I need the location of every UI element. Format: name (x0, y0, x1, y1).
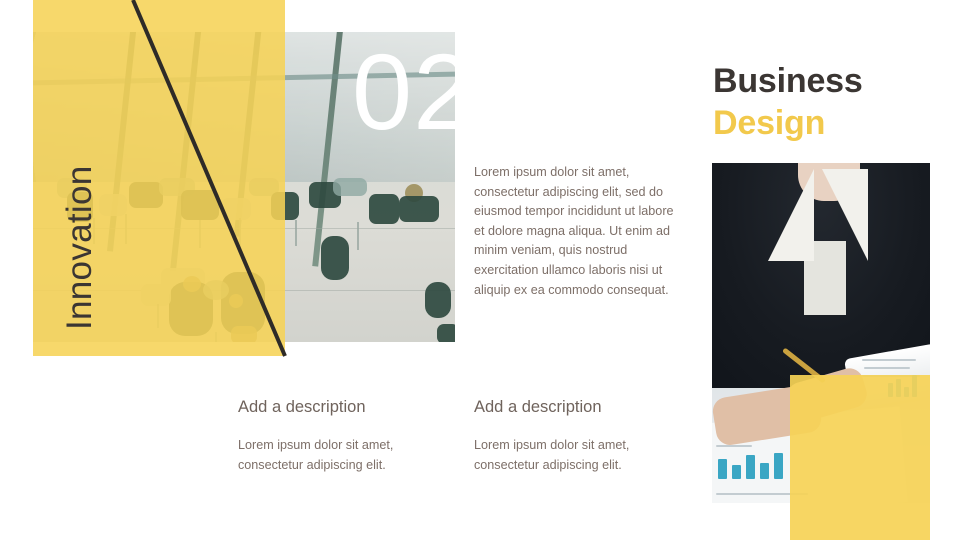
atrium-photo-person (437, 324, 455, 342)
meeting-photo-chart-bar (718, 459, 727, 479)
page-title-primary: Business (713, 60, 863, 102)
atrium-photo-person (399, 196, 439, 222)
title-block: Business Design (713, 60, 863, 144)
atrium-photo-table (333, 178, 367, 196)
main-paragraph: Lorem ipsum dolor sit amet, consectetur … (474, 163, 686, 300)
atrium-photo-chair-leg (357, 222, 359, 250)
slide-canvas: 02 Innovation Business Design Lorem ipsu… (0, 0, 960, 540)
slide-number: 02 (352, 38, 474, 146)
description-heading: Add a description (238, 396, 453, 418)
meeting-photo-collar-left (768, 169, 814, 261)
yellow-overlay-square (790, 375, 930, 540)
meeting-photo-chart-bar (746, 455, 755, 479)
meeting-photo-chart-bar (760, 463, 769, 479)
description-column-1: Add a description Lorem ipsum dolor sit … (238, 396, 453, 475)
meeting-photo-doc-line (862, 359, 916, 361)
atrium-photo-person (321, 236, 349, 280)
description-body: Lorem ipsum dolor sit amet, consectetur … (474, 436, 689, 475)
description-heading: Add a description (474, 396, 689, 418)
meeting-photo-collar-right (822, 169, 868, 261)
meeting-photo-chart-bar (774, 453, 783, 479)
meeting-photo-chart-bar (732, 465, 741, 479)
meeting-photo-doc-line (864, 367, 910, 369)
vertical-section-label: Innovation (60, 130, 100, 330)
page-title-accent: Design (713, 102, 863, 144)
atrium-photo-person (369, 194, 399, 224)
atrium-photo-person (425, 282, 451, 318)
description-column-2: Add a description Lorem ipsum dolor sit … (474, 396, 689, 475)
atrium-photo-chair-leg (295, 220, 297, 246)
meeting-photo-doc-line (716, 445, 752, 447)
description-body: Lorem ipsum dolor sit amet, consectetur … (238, 436, 453, 475)
